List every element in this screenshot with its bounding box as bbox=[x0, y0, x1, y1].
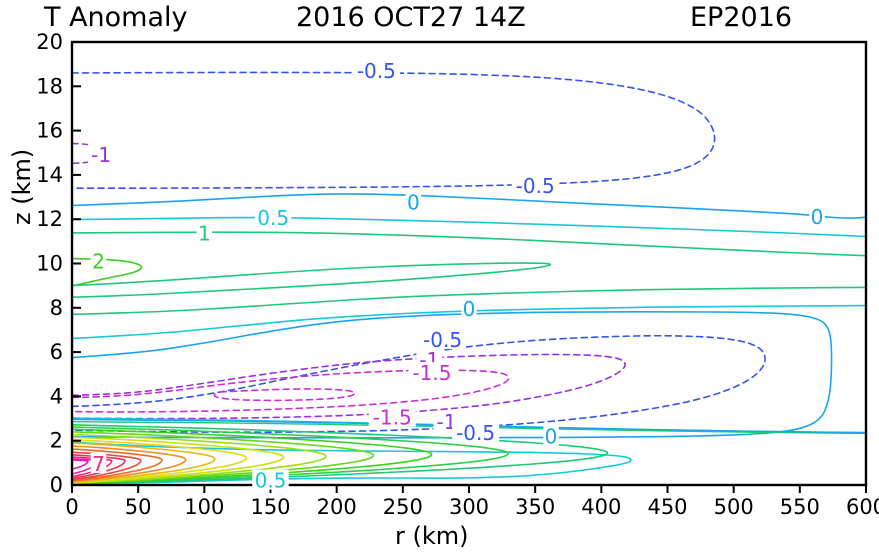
contour-label: 0 bbox=[811, 205, 824, 229]
contour-label: -1 bbox=[91, 143, 111, 167]
contour-neg1-mid-lobe bbox=[72, 354, 625, 418]
tick-label: 12 bbox=[36, 207, 63, 231]
plot-canvas: 0501001502002503003504004505005506000246… bbox=[0, 0, 879, 559]
tick-label: 2 bbox=[50, 429, 63, 453]
x-axis-label: r (km) bbox=[395, 522, 469, 550]
tick-label: 100 bbox=[184, 495, 224, 519]
contour-label: 0 bbox=[463, 297, 476, 321]
contour-half-upper bbox=[72, 218, 866, 237]
contour-eight-surface bbox=[72, 460, 88, 469]
contour-label: 1 bbox=[198, 222, 211, 246]
contour-one-upper bbox=[72, 232, 866, 256]
tick-label: 10 bbox=[36, 252, 63, 276]
tick-label: 500 bbox=[714, 495, 754, 519]
contour-one-mid-lobe bbox=[72, 263, 550, 297]
contour-label: -0.5 bbox=[516, 174, 555, 198]
tick-label: 300 bbox=[449, 495, 489, 519]
contour-neg15-inner-lobe bbox=[214, 389, 354, 401]
tick-label: 450 bbox=[647, 495, 687, 519]
tick-label: 18 bbox=[36, 74, 63, 98]
y-axis-label: z (km) bbox=[8, 149, 36, 225]
contour-label: -1.5 bbox=[412, 361, 451, 385]
tick-label: 6 bbox=[50, 340, 63, 364]
contour-label: -0.5 bbox=[456, 421, 495, 445]
contour-label: 0 bbox=[545, 424, 558, 448]
tick-label: 14 bbox=[36, 163, 63, 187]
tick-label: 150 bbox=[250, 495, 290, 519]
tick-label: 0 bbox=[65, 495, 78, 519]
tick-label: 400 bbox=[581, 495, 621, 519]
tick-label: 550 bbox=[780, 495, 820, 519]
contour-zero-upper bbox=[72, 194, 866, 218]
tick-label: 20 bbox=[36, 30, 63, 54]
tick-label: 600 bbox=[846, 495, 879, 519]
contour-two-lobe bbox=[72, 259, 142, 286]
tick-label: 8 bbox=[50, 296, 63, 320]
tick-label: 4 bbox=[50, 384, 63, 408]
tick-label: 200 bbox=[317, 495, 357, 519]
contour-label: 0.5 bbox=[255, 469, 287, 493]
tick-label: 16 bbox=[36, 119, 63, 143]
contour-label: 0.5 bbox=[257, 206, 289, 230]
contour-label: -0.5 bbox=[357, 59, 396, 83]
contour-label: 7 bbox=[92, 452, 105, 476]
contour-label: 2 bbox=[92, 249, 105, 273]
tick-label: 0 bbox=[50, 473, 63, 497]
tick-label: 350 bbox=[515, 495, 555, 519]
contour-plot-figure: T Anomaly 2016 OCT27 14Z EP2016 05010015… bbox=[0, 0, 879, 559]
contour-label: -1.5 bbox=[373, 405, 412, 429]
contour-label: 0 bbox=[407, 191, 420, 215]
tick-label: 250 bbox=[383, 495, 423, 519]
contour-neg05-upper bbox=[72, 72, 715, 188]
tick-label: 50 bbox=[125, 495, 152, 519]
